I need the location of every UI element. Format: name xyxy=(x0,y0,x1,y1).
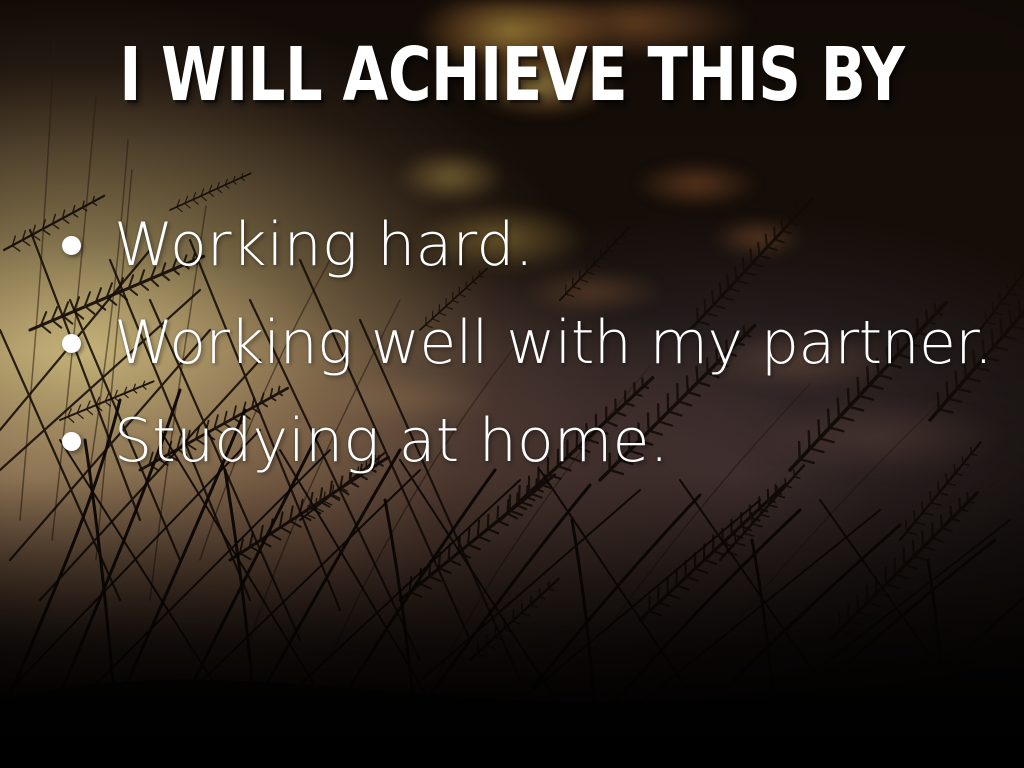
presentation-slide: I WILL ACHIEVE THIS BY Working hard. Wor… xyxy=(0,0,1024,768)
bullet-working-hard: Working hard. xyxy=(56,196,1016,294)
bullet-dot-icon xyxy=(62,334,81,353)
bullet-list: Working hard. Working well with my partn… xyxy=(56,196,1016,490)
bullet-text: Studying at home. xyxy=(114,411,669,471)
slide-content: I WILL ACHIEVE THIS BY Working hard. Wor… xyxy=(0,0,1024,768)
bullet-studying-home: Studying at home. xyxy=(56,392,1016,490)
bullet-dot-icon xyxy=(62,432,81,451)
bullet-text: Working well with my partner. xyxy=(114,313,992,373)
bullet-dot-icon xyxy=(62,236,81,255)
bullet-text: Working hard. xyxy=(114,215,534,275)
slide-title: I WILL ACHIEVE THIS BY xyxy=(102,38,921,112)
bullet-working-partner: Working well with my partner. xyxy=(56,294,1016,392)
